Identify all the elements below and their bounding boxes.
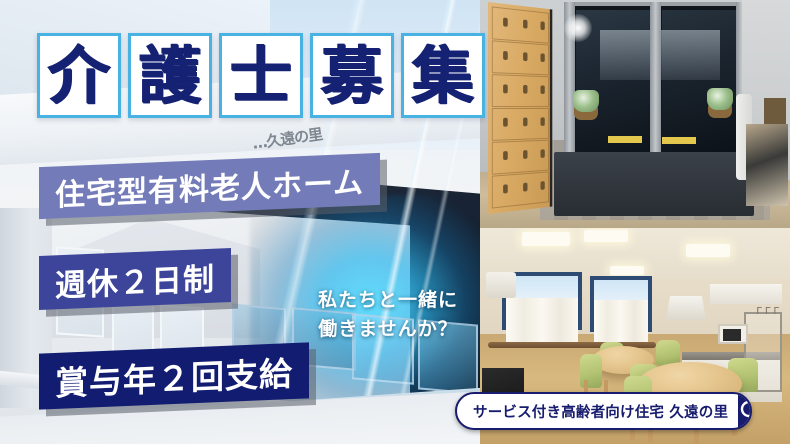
- shoe-lockers: [488, 2, 552, 214]
- title-char-1: 介: [48, 45, 110, 107]
- range-hood: [666, 296, 706, 320]
- lens-flare: [564, 14, 592, 42]
- feature-banner-label-3: 賞与年２回支給: [55, 347, 293, 405]
- ceiling-light: [584, 230, 628, 242]
- window-curtain: [506, 298, 578, 342]
- catch-copy-line-1: 私たちと一緒に: [318, 286, 458, 315]
- photo-entrance: [480, 0, 790, 228]
- title-char-2: 護: [139, 45, 201, 107]
- title-char-box-2: 護: [128, 33, 212, 118]
- ceiling-light: [522, 232, 570, 246]
- title-char-box-5: 集: [401, 33, 485, 118]
- window-curtain: [594, 300, 648, 342]
- feature-banner-label-1: 住宅型有料老人ホーム: [55, 158, 364, 215]
- entrance-mat: [554, 152, 754, 216]
- microwave-oven: [718, 324, 748, 344]
- search-input[interactable]: サービス付き高齢者向け住宅 久遠の里: [457, 401, 738, 422]
- feature-banner-label-2: 週休２日制: [55, 253, 215, 305]
- title-char-3: 士: [230, 45, 292, 107]
- title-char-box-3: 士: [219, 33, 303, 118]
- air-conditioner: [486, 272, 516, 298]
- kitchen-upper-cabinet: [710, 284, 782, 304]
- catch-copy: 私たちと一緒に 働きませんか？: [318, 286, 458, 343]
- title-char-box-4: 募: [310, 33, 394, 118]
- ad-banner-canvas: …久遠の里 介 護 士 募 集 住宅型有料老人ホーム 週休２日制 賞与年２回支給…: [0, 0, 790, 444]
- feature-banner-two-days-off: 週休２日制: [39, 248, 231, 310]
- search-bar[interactable]: サービス付き高齢者向け住宅 久遠の里: [455, 392, 752, 430]
- feature-banner-bonus: 賞与年２回支給: [39, 342, 309, 409]
- plant: [707, 88, 733, 110]
- wheelchair-cart: [746, 124, 788, 206]
- catch-copy-line-2: 働きませんか？: [318, 315, 458, 344]
- tactile-paving: [662, 137, 696, 144]
- wall-hooks: ΓΓΓ: [756, 306, 782, 317]
- title-char-4: 募: [321, 45, 383, 107]
- ceiling-light: [610, 266, 644, 275]
- headline-title: 介 護 士 募 集: [37, 33, 485, 118]
- door-mullion: [650, 2, 661, 160]
- tactile-paving: [608, 136, 642, 143]
- ceiling-light: [686, 244, 730, 257]
- plant: [573, 90, 599, 112]
- title-char-5: 集: [412, 45, 474, 107]
- title-char-box-1: 介: [37, 33, 121, 118]
